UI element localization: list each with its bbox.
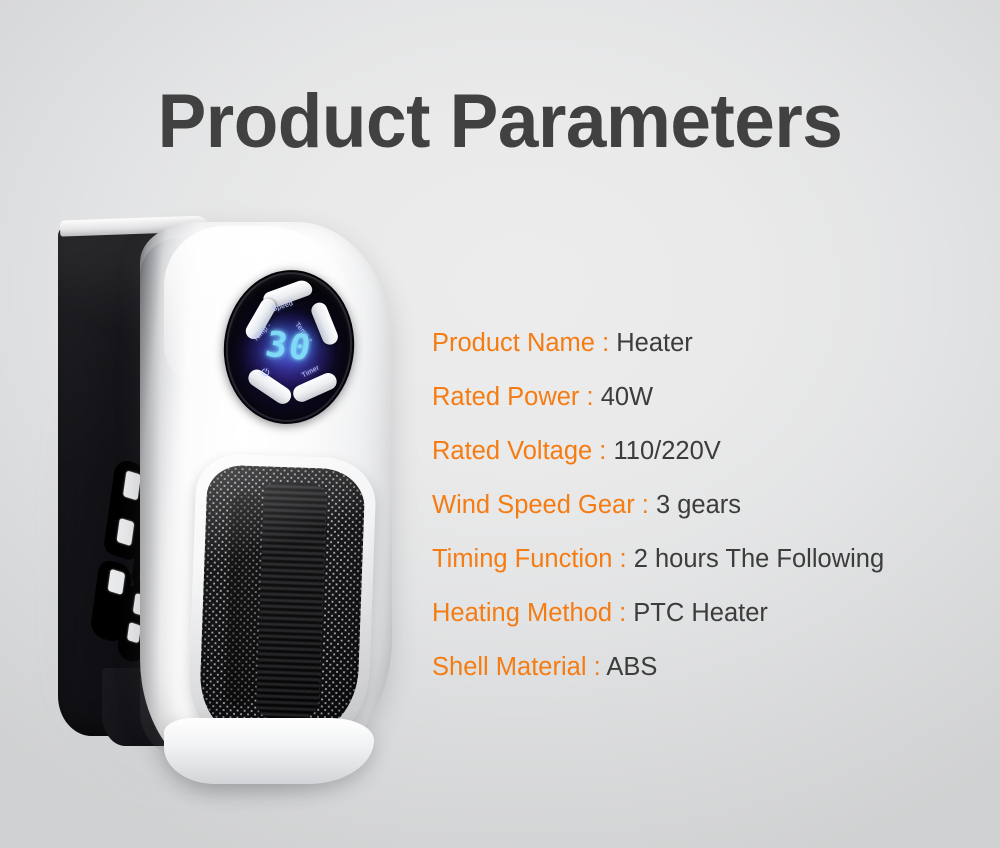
- vent-opening: [108, 569, 126, 595]
- parameter-row: Timing Function : 2 hours The Following: [432, 542, 977, 596]
- parameter-row: Rated Power : 40W: [432, 380, 977, 434]
- parameter-label: Rated Power :: [432, 383, 594, 411]
- parameter-value: 2 hours The Following: [634, 545, 884, 573]
- parameter-value: 40W: [601, 383, 653, 411]
- parameter-row: Rated Voltage : 110/220V: [432, 434, 977, 488]
- parameter-label: Timing Function :: [432, 545, 627, 573]
- ptc-heating-element: [256, 482, 327, 720]
- parameter-row: Wind Speed Gear : 3 gears: [432, 488, 977, 542]
- heater-grille-frame: [187, 453, 377, 749]
- parameter-row: Product Name : Heater: [432, 326, 977, 380]
- parameter-label: Shell Material :: [432, 653, 601, 681]
- parameter-label: Product Name :: [432, 329, 609, 357]
- product-image-heater: Speed Temp - Temp + ⏻ Timer 30: [44, 198, 394, 798]
- parameter-label: Wind Speed Gear :: [432, 491, 649, 519]
- parameter-value: 110/220V: [613, 437, 720, 465]
- heater-honeycomb-grille: [198, 464, 365, 737]
- parameter-label: Rated Voltage :: [432, 437, 606, 465]
- parameter-value: 3 gears: [656, 491, 741, 519]
- parameter-row: Heating Method : PTC Heater: [432, 596, 977, 650]
- parameter-value: Heater: [616, 329, 693, 357]
- heater-bottom-lip: [164, 718, 374, 784]
- page-title: Product Parameters: [20, 78, 980, 165]
- vent-opening: [127, 622, 141, 643]
- product-parameters-banner: Product Parameters: [0, 0, 1000, 848]
- parameter-value: ABS: [606, 653, 657, 681]
- parameter-row: Shell Material : ABS: [432, 650, 977, 704]
- parameter-value: PTC Heater: [633, 599, 768, 627]
- parameter-label: Heating Method :: [432, 599, 626, 627]
- parameter-list: Product Name : Heater Rated Power : 40W …: [432, 326, 977, 704]
